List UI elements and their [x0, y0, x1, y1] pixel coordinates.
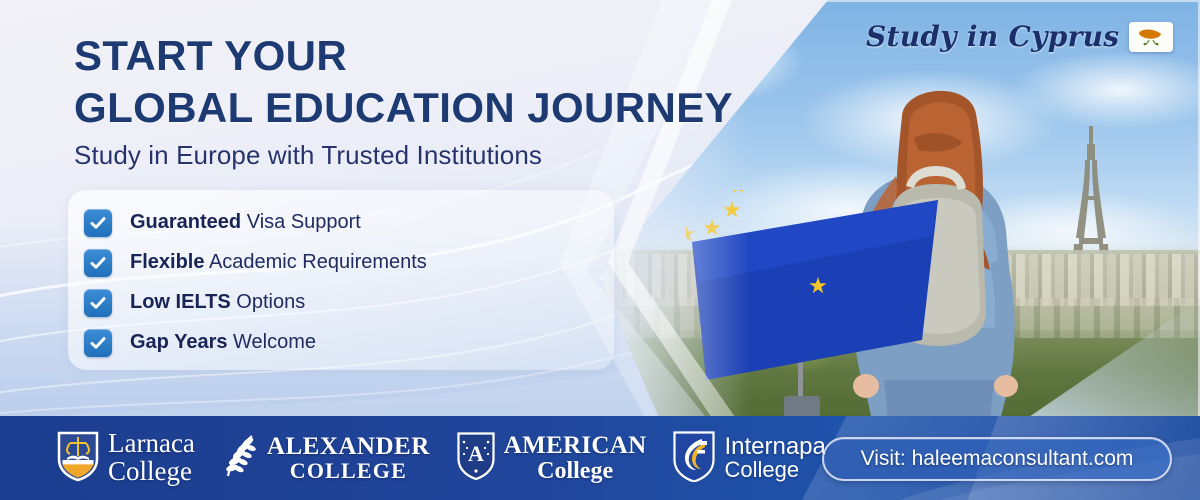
feature-text: Low IELTS Options [130, 291, 305, 314]
partner-line-1: Internapa [724, 435, 825, 459]
list-item: Guaranteed Visa Support [84, 203, 427, 242]
feature-rest: Welcome [227, 331, 316, 353]
partner-logo-internapa[interactable]: Internapa College [672, 428, 825, 488]
larnaca-shield-icon [56, 430, 100, 487]
partner-logo-larnaca[interactable]: Larnaca College [56, 428, 195, 488]
headline-line-2: GLOBAL EDUCATION JOURNEY [74, 86, 733, 130]
checkbox-checked-icon [84, 209, 112, 237]
headline-block: START YOUR GLOBAL EDUCATION JOURNEY [74, 34, 733, 130]
features-list: Guaranteed Visa Support Flexible Academi… [84, 203, 427, 363]
partner-line-2: COLLEGE [267, 460, 430, 482]
laurel-branch-icon [221, 433, 259, 484]
partner-line-2: College [504, 459, 647, 483]
list-item: Gap Years Welcome [84, 323, 427, 362]
promo-banner: START YOUR GLOBAL EDUCATION JOURNEY Stud… [0, 0, 1200, 500]
partner-line-1: ALEXANDER [267, 434, 430, 460]
american-shield-icon: A [456, 431, 496, 486]
list-item: Flexible Academic Requirements [84, 243, 427, 282]
feature-text: Guaranteed Visa Support [130, 211, 361, 234]
feature-text: Gap Years Welcome [130, 331, 316, 354]
visit-website-label: Visit: haleemaconsultant.com [861, 447, 1134, 471]
partner-name-alexander: ALEXANDER COLLEGE [267, 434, 430, 482]
cyprus-flag-icon [1129, 22, 1173, 52]
partner-line-2: College [724, 459, 825, 481]
feature-bold: Gap Years [130, 331, 227, 353]
feature-text: Flexible Academic Requirements [130, 251, 427, 274]
partner-logo-alexander[interactable]: ALEXANDER COLLEGE [221, 428, 430, 488]
partner-logo-american[interactable]: A AMERICAN College [456, 428, 647, 488]
partner-line-1: AMERICAN [504, 433, 647, 459]
headline-line-1: START YOUR [74, 34, 733, 78]
feature-rest: Visa Support [241, 211, 361, 233]
partner-line-2: College [108, 458, 195, 486]
checkbox-checked-icon [84, 289, 112, 317]
svg-text:A: A [468, 441, 484, 466]
feature-bold: Flexible [130, 251, 204, 273]
study-in-cyprus-label: Study in Cyprus [866, 20, 1119, 53]
feature-bold: Guaranteed [130, 211, 241, 233]
internapa-flame-shield-icon [672, 430, 716, 487]
partner-logos: Larnaca College [56, 424, 826, 492]
checkbox-checked-icon [84, 329, 112, 357]
partner-name-internapa: Internapa College [724, 435, 825, 482]
partner-line-1: Larnaca [108, 430, 195, 458]
partner-name-american: AMERICAN College [504, 433, 647, 483]
checkbox-checked-icon [84, 249, 112, 277]
feature-rest: Academic Requirements [204, 251, 426, 273]
visit-website-button[interactable]: Visit: haleemaconsultant.com [822, 437, 1172, 481]
feature-rest: Options [231, 291, 305, 313]
list-item: Low IELTS Options [84, 283, 427, 322]
feature-bold: Low IELTS [130, 291, 231, 313]
subtitle: Study in Europe with Trusted Institution… [74, 140, 542, 171]
study-in-cyprus-badge: Study in Cyprus [866, 20, 1173, 53]
partner-name-larnaca: Larnaca College [108, 430, 195, 485]
